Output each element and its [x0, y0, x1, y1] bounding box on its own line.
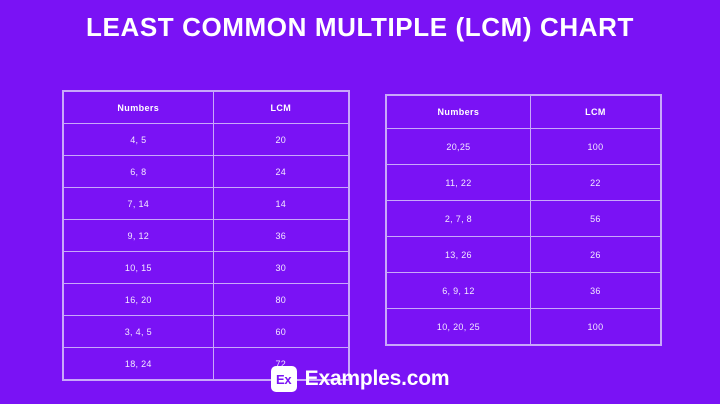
brand-name: Examples.com: [305, 367, 450, 391]
cell-numbers: 4, 5: [64, 124, 214, 156]
cell-numbers: 3, 4, 5: [64, 316, 214, 348]
cell-lcm: 30: [213, 252, 348, 284]
table-row: 6, 8 24: [64, 156, 349, 188]
cell-numbers: 2, 7, 8: [387, 201, 531, 237]
cell-numbers: 6, 8: [64, 156, 214, 188]
column-header-numbers: Numbers: [387, 96, 531, 129]
column-header-numbers: Numbers: [64, 92, 214, 124]
table-row: 3, 4, 5 60: [64, 316, 349, 348]
table-row: 7, 14 14: [64, 188, 349, 220]
right-table-body: 20,25 100 11, 22 22 2, 7, 8 56 13, 26 26: [387, 129, 661, 345]
cell-lcm: 60: [213, 316, 348, 348]
cell-lcm: 100: [530, 309, 660, 345]
column-header-lcm: LCM: [530, 96, 660, 129]
table-row: 10, 15 30: [64, 252, 349, 284]
cell-lcm: 36: [213, 220, 348, 252]
left-table: Numbers LCM 4, 5 20 6, 8 24 7, 14: [62, 90, 350, 381]
cell-lcm: 36: [530, 273, 660, 309]
left-table-body: 4, 5 20 6, 8 24 7, 14 14 9, 12 36: [64, 124, 349, 380]
cell-numbers: 9, 12: [64, 220, 214, 252]
right-table: Numbers LCM 20,25 100 11, 22 22 2, 7, 8: [385, 94, 662, 346]
lcm-chart-poster: LEAST COMMON MULTIPLE (LCM) CHART Number…: [0, 0, 720, 404]
table-row: 16, 20 80: [64, 284, 349, 316]
page-title: LEAST COMMON MULTIPLE (LCM) CHART: [0, 12, 720, 43]
table-row: 2, 7, 8 56: [387, 201, 661, 237]
cell-numbers: 6, 9, 12: [387, 273, 531, 309]
cell-numbers: 7, 14: [64, 188, 214, 220]
table-header-row: Numbers LCM: [64, 92, 349, 124]
cell-lcm: 14: [213, 188, 348, 220]
footer-branding: Ex Examples.com: [0, 366, 720, 392]
table-row: 11, 22 22: [387, 165, 661, 201]
left-table-head: Numbers LCM: [64, 92, 349, 124]
table-row: 20,25 100: [387, 129, 661, 165]
cell-numbers: 10, 15: [64, 252, 214, 284]
table-row: 4, 5 20: [64, 124, 349, 156]
table-row: 13, 26 26: [387, 237, 661, 273]
cell-numbers: 16, 20: [64, 284, 214, 316]
table-row: 10, 20, 25 100: [387, 309, 661, 345]
right-table-head: Numbers LCM: [387, 96, 661, 129]
table-row: 9, 12 36: [64, 220, 349, 252]
table-header-row: Numbers LCM: [387, 96, 661, 129]
examples-logo-icon: Ex: [271, 366, 297, 392]
cell-lcm: 80: [213, 284, 348, 316]
cell-lcm: 100: [530, 129, 660, 165]
cell-lcm: 56: [530, 201, 660, 237]
cell-numbers: 13, 26: [387, 237, 531, 273]
title-container: LEAST COMMON MULTIPLE (LCM) CHART: [0, 12, 720, 43]
cell-lcm: 22: [530, 165, 660, 201]
column-header-lcm: LCM: [213, 92, 348, 124]
table-row: 6, 9, 12 36: [387, 273, 661, 309]
cell-numbers: 11, 22: [387, 165, 531, 201]
cell-numbers: 10, 20, 25: [387, 309, 531, 345]
cell-lcm: 26: [530, 237, 660, 273]
cell-lcm: 24: [213, 156, 348, 188]
cell-numbers: 20,25: [387, 129, 531, 165]
right-table-grid: Numbers LCM 20,25 100 11, 22 22 2, 7, 8: [386, 95, 661, 345]
left-table-grid: Numbers LCM 4, 5 20 6, 8 24 7, 14: [63, 91, 349, 380]
cell-lcm: 20: [213, 124, 348, 156]
